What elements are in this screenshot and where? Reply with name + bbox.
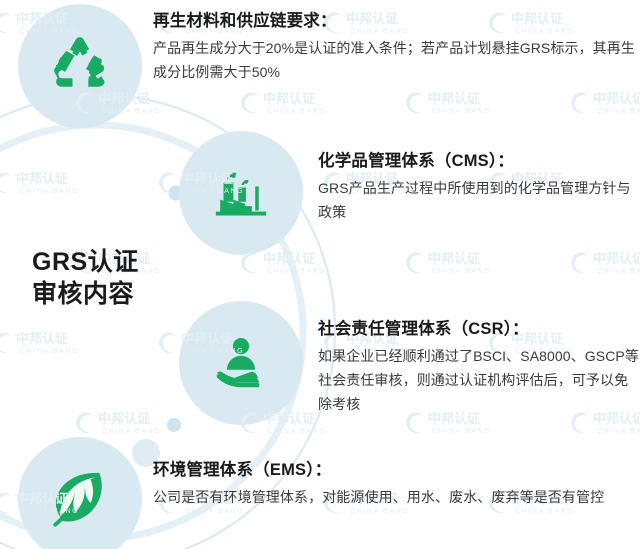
section-body: 产品再生成分大于20%是认证的准入条件；若产品计划悬挂GRS标示，其再生成分比例… bbox=[153, 36, 639, 84]
c-logo-icon bbox=[159, 332, 177, 353]
svg-text:CHINA BANG: CHINA BANG bbox=[102, 428, 161, 435]
svg-text:CHINA BANG: CHINA BANG bbox=[597, 268, 640, 275]
svg-text:中邦认证: 中邦认证 bbox=[593, 251, 640, 266]
svg-text:中邦认证: 中邦认证 bbox=[16, 331, 68, 346]
svg-text:CHINA BANG: CHINA BANG bbox=[597, 108, 640, 115]
section-text-social-responsibility: 社会责任管理体系（CSR）： 如果企业已经顺利通过了BSCI、SA8000、GS… bbox=[318, 318, 640, 417]
svg-text:中邦认证: 中邦认证 bbox=[263, 251, 315, 266]
watermark: 中邦认证CHINA BANG bbox=[0, 328, 82, 358]
c-logo-icon bbox=[0, 332, 12, 353]
watermark: 中邦认证CHINA BANG bbox=[0, 168, 82, 198]
arc-dot bbox=[167, 418, 181, 432]
c-logo-icon bbox=[76, 412, 94, 433]
watermark: 中邦认证CHINA BANG bbox=[402, 248, 494, 278]
svg-text:CHINA BANG: CHINA BANG bbox=[432, 428, 491, 435]
hand-person-icon bbox=[205, 327, 277, 399]
section-body: 如果企业已经顺利通过了BSCI、SA8000、GSCP等社会责任审核，则通过认证… bbox=[318, 344, 640, 416]
section-heading: 环境管理体系（EMS）： bbox=[153, 459, 639, 481]
page-title-line2: 审核内容 bbox=[32, 278, 182, 310]
section-icon-circle-recycled-materials bbox=[18, 4, 142, 128]
page-title-line1: GRS认证 bbox=[32, 248, 139, 276]
grs-audit-infographic: 中邦认证CHINA BANG中邦认证CHINA BANG中邦认证CHINA BA… bbox=[0, 0, 640, 549]
factory-icon bbox=[206, 158, 276, 228]
c-logo-icon bbox=[571, 252, 589, 273]
section-text-environmental-management: 环境管理体系（EMS）： 公司是否有环境管理体系，对能源使用、用水、废水、废弃等… bbox=[153, 459, 639, 509]
svg-text:CHINA BANG: CHINA BANG bbox=[267, 268, 326, 275]
c-logo-icon bbox=[241, 252, 259, 273]
c-logo-icon bbox=[159, 172, 177, 193]
svg-text:CHINA BANG: CHINA BANG bbox=[267, 108, 326, 115]
svg-text:中邦认证: 中邦认证 bbox=[263, 91, 315, 106]
svg-text:CHINA BANG: CHINA BANG bbox=[20, 188, 79, 195]
c-logo-icon bbox=[0, 492, 12, 513]
section-text-recycled-materials: 再生材料和供应链要求： 产品再生成分大于20%是认证的准入条件；若产品计划悬挂G… bbox=[153, 10, 639, 84]
svg-text:中邦认证: 中邦认证 bbox=[593, 91, 640, 106]
c-logo-icon bbox=[406, 252, 424, 273]
svg-text:中邦认证: 中邦认证 bbox=[16, 171, 68, 186]
section-body: GRS产品生产过程中所使用到的化学品管理方针与政策 bbox=[318, 176, 640, 224]
section-heading: 社会责任管理体系（CSR）： bbox=[318, 318, 640, 340]
recycle-icon bbox=[44, 30, 116, 102]
leaf-icon bbox=[43, 462, 117, 536]
watermark: 中邦认证CHINA BANG bbox=[237, 88, 329, 118]
section-body: 公司是否有环境管理体系，对能源使用、用水、废水、废弃等是否有管控 bbox=[153, 485, 639, 509]
watermark: 中邦认证CHINA BANG bbox=[72, 408, 164, 438]
c-logo-icon bbox=[0, 12, 12, 33]
watermark: 中邦认证CHINA BANG bbox=[402, 88, 494, 118]
svg-text:中邦认证: 中邦认证 bbox=[98, 411, 150, 426]
section-icon-circle-social-responsibility bbox=[179, 301, 303, 425]
c-logo-icon bbox=[571, 92, 589, 113]
c-logo-icon bbox=[0, 172, 12, 193]
watermark: 中邦认证CHINA BANG bbox=[567, 88, 640, 118]
svg-text:CHINA BANG: CHINA BANG bbox=[432, 268, 491, 275]
svg-text:CHINA BANG: CHINA BANG bbox=[20, 348, 79, 355]
section-icon-circle-environmental-management bbox=[18, 437, 142, 549]
c-logo-icon bbox=[241, 92, 259, 113]
section-text-chemical-management: 化学品管理体系（CMS）： GRS产品生产过程中所使用到的化学品管理方针与政策 bbox=[318, 150, 640, 224]
svg-text:中邦认证: 中邦认证 bbox=[428, 251, 480, 266]
watermark: 中邦认证CHINA BANG bbox=[567, 248, 640, 278]
svg-text:CHINA BANG: CHINA BANG bbox=[597, 428, 640, 435]
section-heading: 再生材料和供应链要求： bbox=[153, 10, 639, 32]
section-heading: 化学品管理体系（CMS）： bbox=[318, 150, 640, 172]
svg-text:中邦认证: 中邦认证 bbox=[428, 91, 480, 106]
svg-text:CHINA BANG: CHINA BANG bbox=[432, 108, 491, 115]
svg-text:CHINA BANG: CHINA BANG bbox=[267, 428, 326, 435]
page-title: GRS认证 审核内容 bbox=[32, 246, 182, 310]
c-logo-icon bbox=[406, 92, 424, 113]
section-icon-circle-chemical-management bbox=[179, 131, 303, 255]
